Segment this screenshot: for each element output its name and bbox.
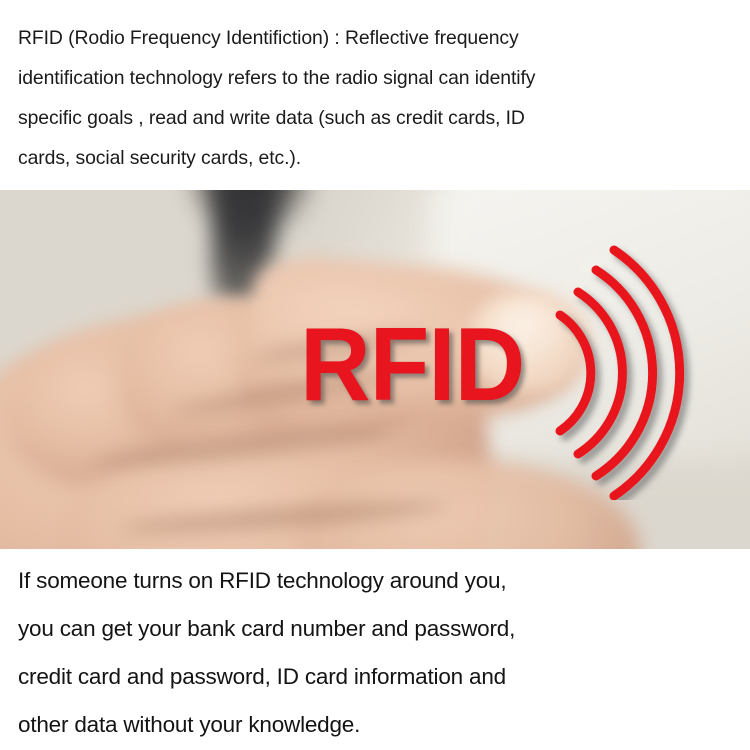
bottom-text-line-3: credit card and password, ID card inform…	[18, 653, 734, 701]
bottom-text-block: If someone turns on RFID technology arou…	[0, 549, 750, 750]
bottom-text-line-2: you can get your bank card number and pa…	[18, 605, 734, 653]
hand-photo-subject	[0, 190, 750, 549]
infographic-page: RFID (Rodio Frequency Identifiction) : R…	[0, 0, 750, 750]
top-text-block: RFID (Rodio Frequency Identifiction) : R…	[0, 0, 750, 190]
top-text-line-3: specific goals , read and write data (su…	[18, 98, 734, 138]
top-text-line-2: identification technology refers to the …	[18, 58, 734, 98]
bottom-text-line-4: other data without your knowledge.	[18, 701, 734, 749]
top-text-line-4: cards, social security cards, etc.).	[18, 138, 734, 178]
hand-fingernail	[492, 302, 564, 362]
top-text-line-1: RFID (Rodio Frequency Identifiction) : R…	[18, 18, 734, 58]
bottom-text-line-1: If someone turns on RFID technology arou…	[18, 557, 734, 605]
rfid-photo: RFID	[0, 190, 750, 549]
